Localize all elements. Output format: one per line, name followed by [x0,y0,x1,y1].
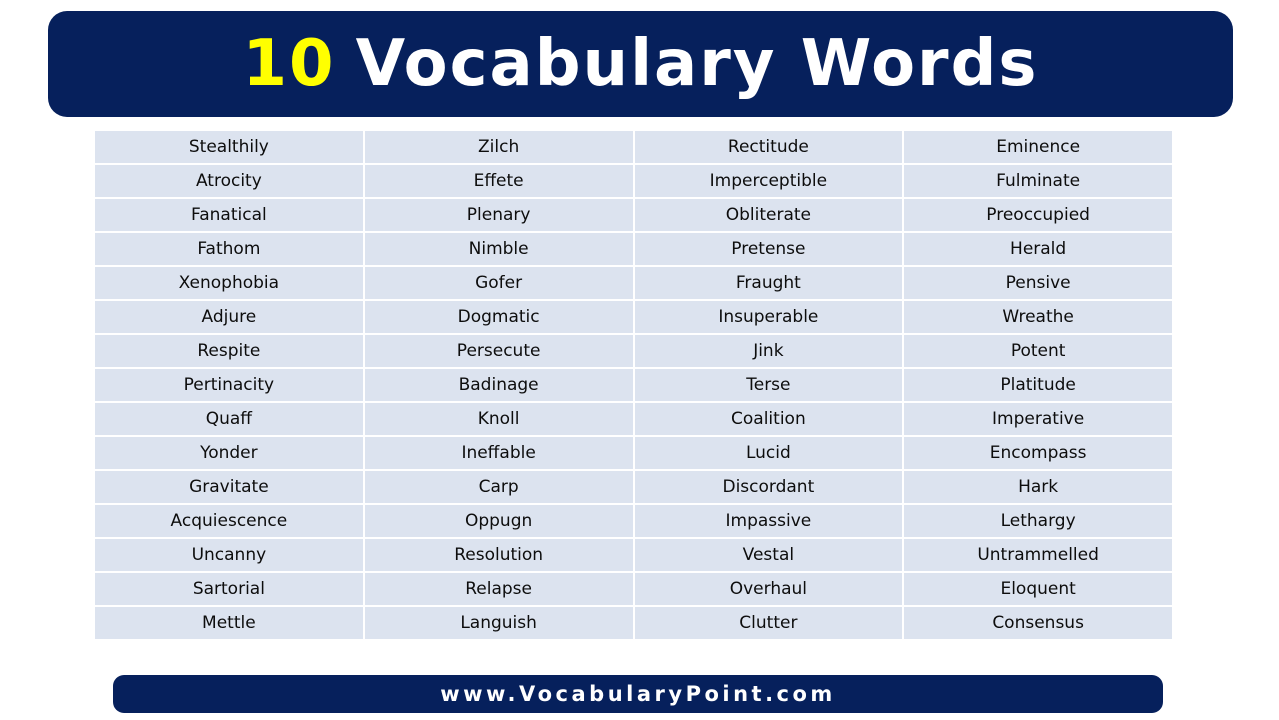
vocabulary-word-cell: Consensus [904,607,1172,639]
vocabulary-word-cell: Zilch [365,131,633,163]
table-row: GravitateCarpDiscordantHark [95,471,1172,503]
vocabulary-word-cell: Eloquent [904,573,1172,605]
table-row: AdjureDogmaticInsuperableWreathe [95,301,1172,333]
table-row: QuaffKnollCoalitionImperative [95,403,1172,435]
vocabulary-word-cell: Clutter [635,607,903,639]
table-row: UncannyResolutionVestalUntrammelled [95,539,1172,571]
vocabulary-word-cell: Fulminate [904,165,1172,197]
vocabulary-word-cell: Effete [365,165,633,197]
table-row: AtrocityEffeteImperceptibleFulminate [95,165,1172,197]
vocabulary-word-cell: Discordant [635,471,903,503]
vocabulary-word-cell: Lethargy [904,505,1172,537]
vocabulary-word-cell: Xenophobia [95,267,363,299]
table-row: FanaticalPlenaryObliteratePreoccupied [95,199,1172,231]
vocabulary-word-cell: Dogmatic [365,301,633,333]
vocabulary-word-cell: Coalition [635,403,903,435]
vocabulary-word-cell: Relapse [365,573,633,605]
vocabulary-word-cell: Gofer [365,267,633,299]
vocabulary-word-cell: Insuperable [635,301,903,333]
vocabulary-word-cell: Imperceptible [635,165,903,197]
vocabulary-word-cell: Potent [904,335,1172,367]
vocabulary-word-cell: Fathom [95,233,363,265]
vocabulary-word-cell: Carp [365,471,633,503]
vocabulary-word-cell: Uncanny [95,539,363,571]
vocabulary-word-cell: Acquiescence [95,505,363,537]
vocabulary-word-cell: Gravitate [95,471,363,503]
vocabulary-word-cell: Atrocity [95,165,363,197]
page-title: 10 Vocabulary Words [243,32,1039,96]
vocabulary-word-cell: Preoccupied [904,199,1172,231]
table-row: StealthilyZilchRectitudeEminence [95,131,1172,163]
vocabulary-word-cell: Wreathe [904,301,1172,333]
vocabulary-word-cell: Fraught [635,267,903,299]
vocabulary-word-cell: Pensive [904,267,1172,299]
vocabulary-word-cell: Impassive [635,505,903,537]
vocabulary-word-cell: Badinage [365,369,633,401]
table-row: YonderIneffableLucidEncompass [95,437,1172,469]
vocabulary-word-table-body: StealthilyZilchRectitudeEminenceAtrocity… [95,131,1172,639]
vocabulary-word-cell: Fanatical [95,199,363,231]
vocabulary-word-cell: Knoll [365,403,633,435]
website-url[interactable]: www.VocabularyPoint.com [440,682,836,706]
table-row: MettleLanguishClutterConsensus [95,607,1172,639]
vocabulary-word-cell: Respite [95,335,363,367]
footer-banner[interactable]: www.VocabularyPoint.com [113,675,1163,713]
vocabulary-word-cell: Jink [635,335,903,367]
vocabulary-word-cell: Eminence [904,131,1172,163]
title-banner: 10 Vocabulary Words [48,11,1233,117]
vocabulary-word-cell: Obliterate [635,199,903,231]
vocabulary-word-cell: Untrammelled [904,539,1172,571]
vocabulary-word-cell: Terse [635,369,903,401]
vocabulary-word-cell: Yonder [95,437,363,469]
vocabulary-word-cell: Mettle [95,607,363,639]
vocabulary-word-cell: Adjure [95,301,363,333]
vocabulary-word-cell: Plenary [365,199,633,231]
vocabulary-word-cell: Encompass [904,437,1172,469]
table-row: SartorialRelapseOverhaulEloquent [95,573,1172,605]
title-label: Vocabulary Words [356,32,1039,96]
table-row: FathomNimblePretenseHerald [95,233,1172,265]
vocabulary-word-cell: Oppugn [365,505,633,537]
vocabulary-word-cell: Persecute [365,335,633,367]
vocabulary-word-cell: Ineffable [365,437,633,469]
vocabulary-word-cell: Herald [904,233,1172,265]
vocabulary-word-table: StealthilyZilchRectitudeEminenceAtrocity… [93,129,1174,641]
vocabulary-word-cell: Resolution [365,539,633,571]
vocabulary-word-cell: Sartorial [95,573,363,605]
table-row: AcquiescenceOppugnImpassiveLethargy [95,505,1172,537]
title-count: 10 [243,32,336,96]
vocabulary-word-cell: Lucid [635,437,903,469]
vocabulary-word-cell: Pretense [635,233,903,265]
vocabulary-word-cell: Languish [365,607,633,639]
vocabulary-word-cell: Hark [904,471,1172,503]
vocabulary-word-cell: Platitude [904,369,1172,401]
table-row: PertinacityBadinageTersePlatitude [95,369,1172,401]
vocabulary-word-cell: Stealthily [95,131,363,163]
vocabulary-word-cell: Overhaul [635,573,903,605]
table-row: RespitePersecuteJinkPotent [95,335,1172,367]
table-row: XenophobiaGoferFraughtPensive [95,267,1172,299]
vocabulary-word-cell: Nimble [365,233,633,265]
vocabulary-word-cell: Imperative [904,403,1172,435]
vocabulary-word-cell: Quaff [95,403,363,435]
vocabulary-word-cell: Vestal [635,539,903,571]
vocabulary-word-cell: Rectitude [635,131,903,163]
vocabulary-word-cell: Pertinacity [95,369,363,401]
